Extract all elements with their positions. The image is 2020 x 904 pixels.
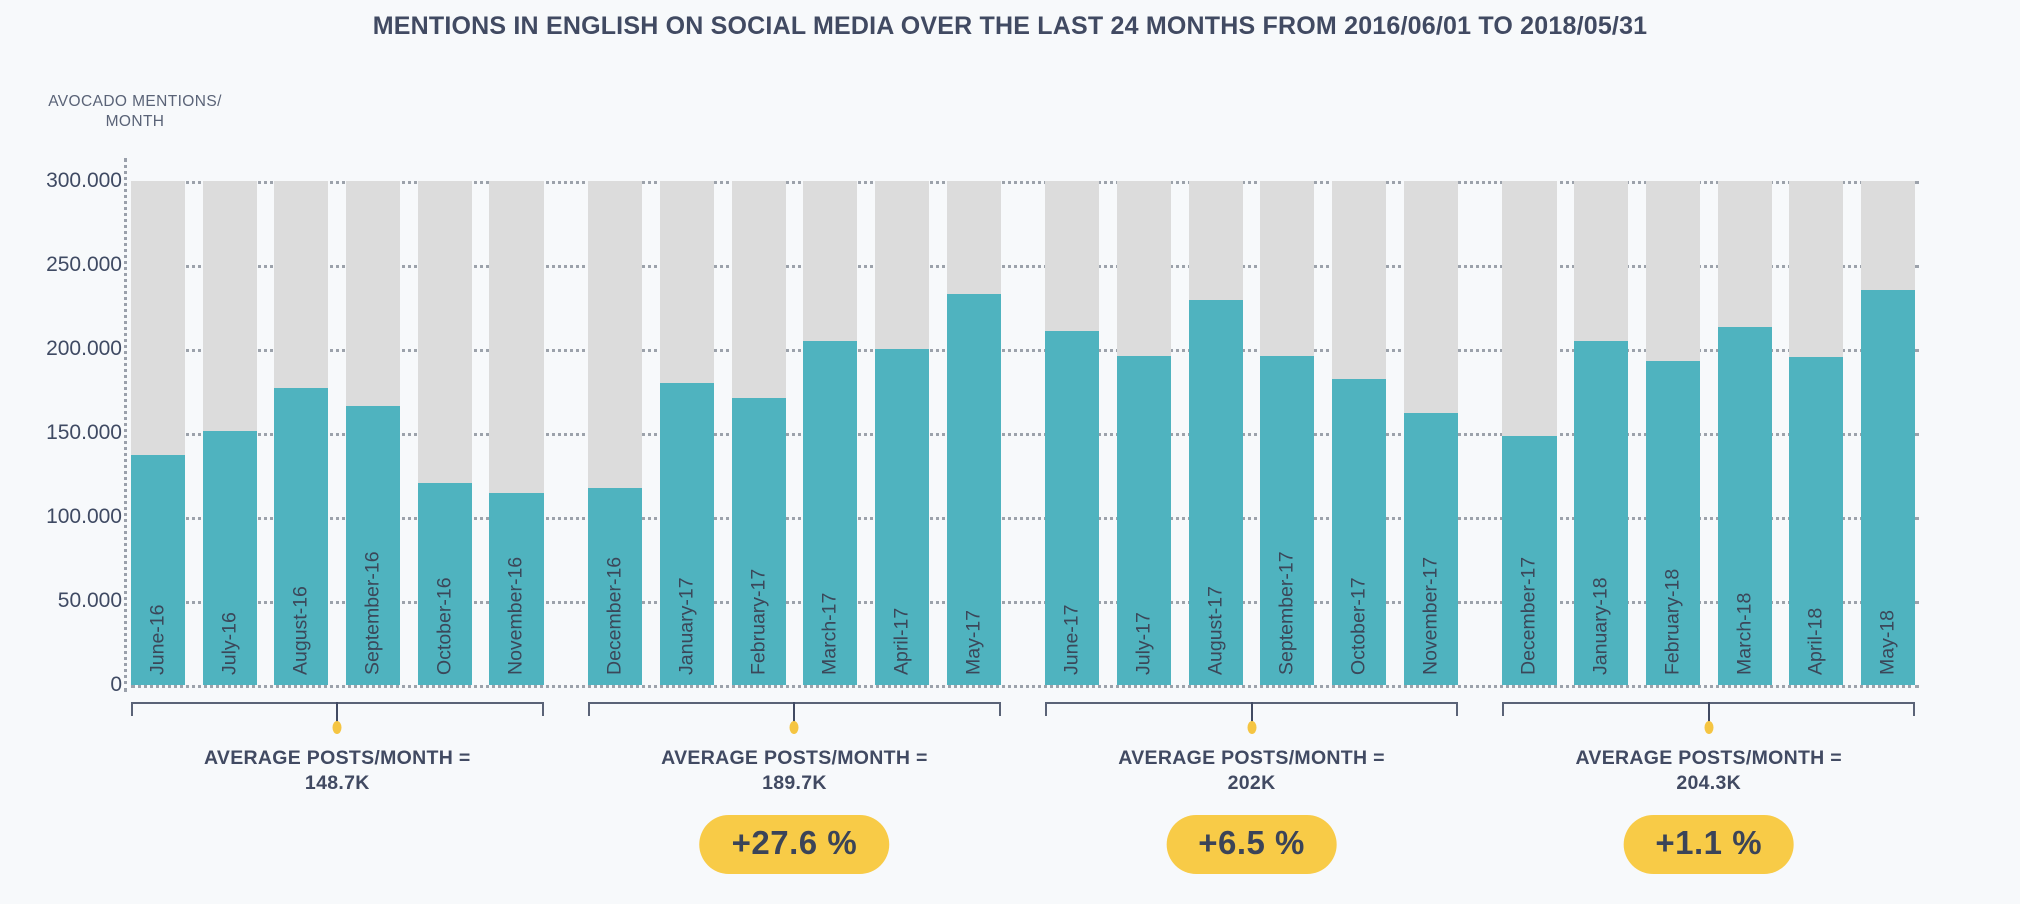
bar-column[interactable]: December-16 [588,181,642,685]
group-tick-dot [790,721,799,734]
group-average-line1: AVERAGE POSTS/MONTH = [588,746,1001,771]
bar-column[interactable]: March-18 [1718,181,1772,685]
bar-column[interactable]: June-16 [131,181,185,685]
page-title: MENTIONS IN ENGLISH ON SOCIAL MEDIA OVER… [0,12,2020,41]
bar-value[interactable] [1789,357,1843,685]
bar-column[interactable]: May-18 [1861,181,1915,685]
group-average-label: AVERAGE POSTS/MONTH =189.7K [588,746,1001,796]
plot-area: June-16July-16August-16September-16Octob… [131,181,1919,685]
bar-column[interactable]: June-17 [1045,181,1099,685]
bar-value[interactable] [588,488,642,685]
y-axis-line [124,158,127,692]
bar-column[interactable]: February-17 [732,181,786,685]
group-delta-badge: +1.1 % [1623,815,1794,874]
group-delta-badge: +27.6 % [700,815,890,874]
bar-value[interactable] [660,383,714,685]
group-tick-stem [336,702,338,722]
group-average-value: 204.3K [1502,771,1915,796]
group-tick-dot [1247,721,1256,734]
bar-value[interactable] [1045,331,1099,685]
bar-column[interactable]: November-17 [1404,181,1458,685]
bar-value[interactable] [1646,361,1700,685]
y-axis-tick-label: 250.000 [2,253,122,277]
group-average-line1: AVERAGE POSTS/MONTH = [1045,746,1458,771]
group-average-value: 148.7K [131,771,544,796]
bar-column[interactable]: August-16 [274,181,328,685]
bar-value[interactable] [346,406,400,685]
bar-value[interactable] [1260,356,1314,685]
bar-column[interactable]: October-17 [1332,181,1386,685]
group-average-label: AVERAGE POSTS/MONTH =204.3K [1502,746,1915,796]
group-tick-stem [1251,702,1253,722]
bar-column[interactable]: April-17 [875,181,929,685]
group-average-line1: AVERAGE POSTS/MONTH = [1502,746,1915,771]
bar-value[interactable] [203,431,257,685]
bar-column[interactable]: September-16 [346,181,400,685]
y-axis-tick-label: 300.000 [2,169,122,193]
y-axis-tick-label: 200.000 [2,337,122,361]
group-average-line1: AVERAGE POSTS/MONTH = [131,746,544,771]
bar-value[interactable] [732,398,786,685]
group-average-value: 189.7K [588,771,1001,796]
bar-value[interactable] [1861,290,1915,685]
bar-value[interactable] [489,493,543,685]
bar-column[interactable]: September-17 [1260,181,1314,685]
group-average-label: AVERAGE POSTS/MONTH =202K [1045,746,1458,796]
bar-column[interactable]: April-18 [1789,181,1843,685]
bar-column[interactable]: July-17 [1117,181,1171,685]
bar-value[interactable] [947,294,1001,685]
y-axis-tick-label: 0 [2,673,122,697]
bar-column[interactable]: December-17 [1502,181,1556,685]
group-annotation: AVERAGE POSTS/MONTH =148.7K [131,702,544,902]
bar-column[interactable]: August-17 [1189,181,1243,685]
group-annotation: AVERAGE POSTS/MONTH =202K+6.5 % [1045,702,1458,902]
bar-column[interactable]: March-17 [803,181,857,685]
y-axis-tick-label: 50.000 [2,589,122,613]
bar-column[interactable]: July-16 [203,181,257,685]
bar-column[interactable]: October-16 [418,181,472,685]
group-tick-dot [1704,721,1713,734]
group-delta-badge: +6.5 % [1166,815,1337,874]
bar-value[interactable] [1502,436,1556,685]
bar-column[interactable]: February-18 [1646,181,1700,685]
group-average-value: 202K [1045,771,1458,796]
bar-value[interactable] [1117,356,1171,685]
y-axis-tick-label: 100.000 [2,505,122,529]
bar-column[interactable]: May-17 [947,181,1001,685]
bar-value[interactable] [875,349,929,685]
group-tick-dot [333,721,342,734]
y-axis-tick-labels: 300.000250.000200.000150.000100.00050.00… [0,0,122,904]
bar-value[interactable] [803,341,857,685]
bar-value[interactable] [1574,341,1628,685]
chart-root: MENTIONS IN ENGLISH ON SOCIAL MEDIA OVER… [0,0,2020,904]
group-tick-stem [793,702,795,722]
gridline [131,685,1919,688]
group-annotation: AVERAGE POSTS/MONTH =189.7K+27.6 % [588,702,1001,902]
y-axis-tick-label: 150.000 [2,421,122,445]
group-tick-stem [1708,702,1710,722]
bar-value[interactable] [274,388,328,685]
bar-value[interactable] [1189,300,1243,685]
group-average-label: AVERAGE POSTS/MONTH =148.7K [131,746,544,796]
bar-value[interactable] [418,483,472,685]
bar-value[interactable] [1718,327,1772,685]
bar-column[interactable]: January-18 [1574,181,1628,685]
bar-value[interactable] [1404,413,1458,685]
group-annotation: AVERAGE POSTS/MONTH =204.3K+1.1 % [1502,702,1915,902]
bar-value[interactable] [1332,379,1386,685]
bar-column[interactable]: January-17 [660,181,714,685]
bar-value[interactable] [131,455,185,685]
bar-column[interactable]: November-16 [489,181,543,685]
